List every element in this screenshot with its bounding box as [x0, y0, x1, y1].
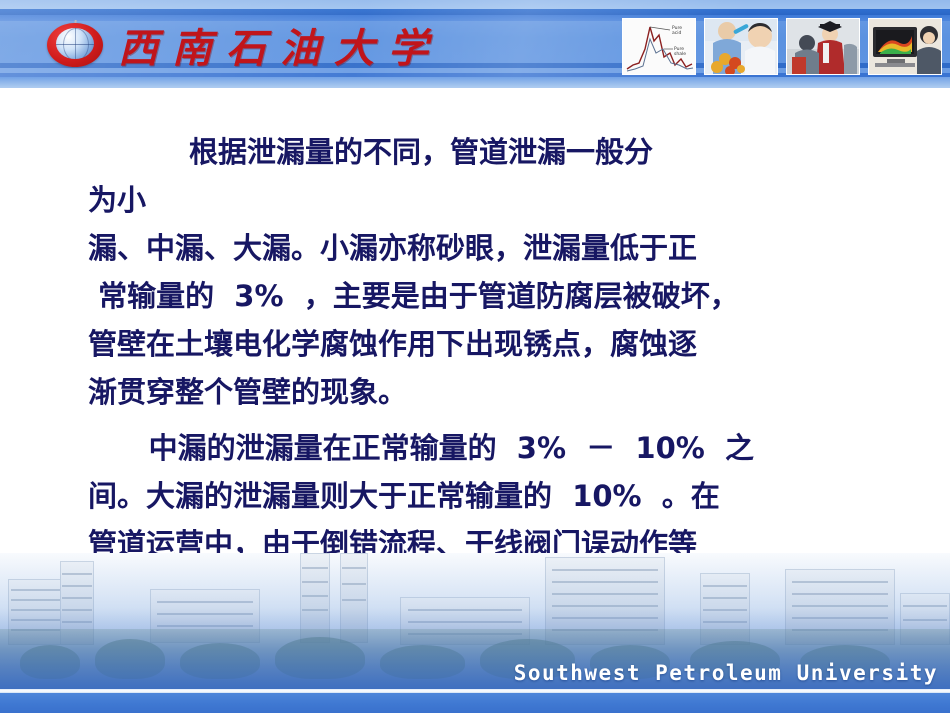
body-paragraph-1: 根据泄漏量的不同，管道泄漏一般分 为小 漏、中漏、大漏。小漏亦称砂眼，泄漏量低于…	[88, 128, 888, 416]
slide-header-banner: 西南石油大学 Pure acid Pure shale	[0, 0, 950, 88]
workstation-thumbnail-svg	[869, 19, 941, 74]
computer-workstation-thumbnail-icon	[868, 18, 942, 75]
line-chart-thumbnail-icon: Pure acid Pure shale	[622, 18, 696, 75]
svg-text:shale: shale	[674, 51, 686, 57]
footer-blue-bar	[0, 693, 950, 713]
header-fade-to-white	[0, 77, 950, 88]
emblem-globe	[56, 28, 94, 59]
globe-in-red-ring-emblem-icon	[44, 20, 106, 70]
emblem-globe-meridian	[63, 28, 89, 59]
university-name-chinese: 西南石油大学	[118, 16, 442, 74]
laboratory-researchers-thumbnail-icon	[704, 18, 778, 75]
presentation-slide: 西南石油大学 Pure acid Pure shale	[0, 0, 950, 713]
line-chart-thumbnail-svg: Pure acid Pure shale	[623, 19, 695, 74]
graduation-thumbnail-svg	[787, 19, 859, 74]
graduation-ceremony-thumbnail-icon	[786, 18, 860, 75]
slide-body: 根据泄漏量的不同，管道泄漏一般分 为小 漏、中漏、大漏。小漏亦称砂眼，泄漏量低于…	[88, 128, 888, 616]
header-band-top	[0, 0, 950, 9]
slide-footer: Southwest Petroleum University	[0, 553, 950, 713]
svg-text:acid: acid	[672, 30, 681, 36]
lab-thumbnail-svg	[705, 19, 777, 74]
university-name-english: Southwest Petroleum University	[514, 661, 938, 685]
header-thumbnail-strip: Pure acid Pure shale	[622, 18, 942, 75]
